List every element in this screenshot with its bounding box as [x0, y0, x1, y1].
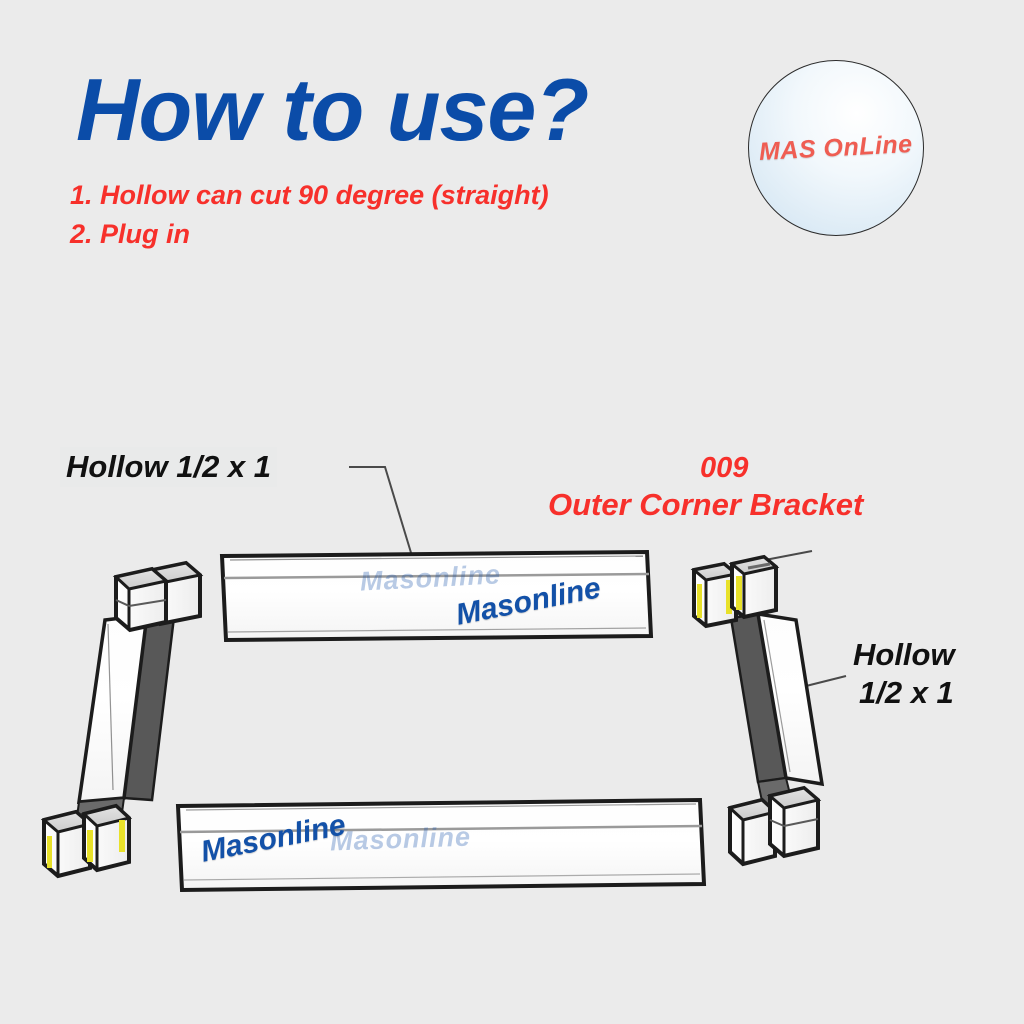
- label-hollow-right-line2: 1/2 x 1: [859, 674, 955, 712]
- label-hollow-left: Hollow 1/2 x 1: [60, 447, 277, 487]
- left-vertical-hollow-tube: [76, 615, 174, 824]
- leader-line-hollow-left: [349, 467, 412, 556]
- label-hollow-right: Hollow 1/2 x 1: [853, 636, 955, 712]
- right-vertical-hollow-tube: [731, 614, 822, 806]
- bracket-accent-stripe: [736, 576, 742, 610]
- bottom-right-outer-corner-bracket: [730, 788, 818, 864]
- label-part-number: 009: [700, 452, 748, 485]
- label-bracket-name: Outer Corner Bracket: [548, 487, 863, 523]
- bracket-accent-stripe: [87, 830, 93, 862]
- product-assembly-illustration: [0, 0, 1024, 1024]
- poster-canvas: How to use? 1. Hollow can cut 90 degree …: [0, 0, 1024, 1024]
- label-hollow-right-line1: Hollow: [853, 636, 955, 674]
- bracket-accent-stripe: [697, 584, 702, 618]
- tube-ghost-watermark-bottom: Masonline: [330, 822, 472, 858]
- bottom-left-outer-corner-bracket: [44, 806, 129, 876]
- leader-line-bracket: [765, 551, 812, 560]
- bracket-accent-stripe: [47, 836, 52, 868]
- top-left-outer-corner-bracket: [116, 563, 200, 630]
- bracket-accent-stripe: [119, 820, 125, 852]
